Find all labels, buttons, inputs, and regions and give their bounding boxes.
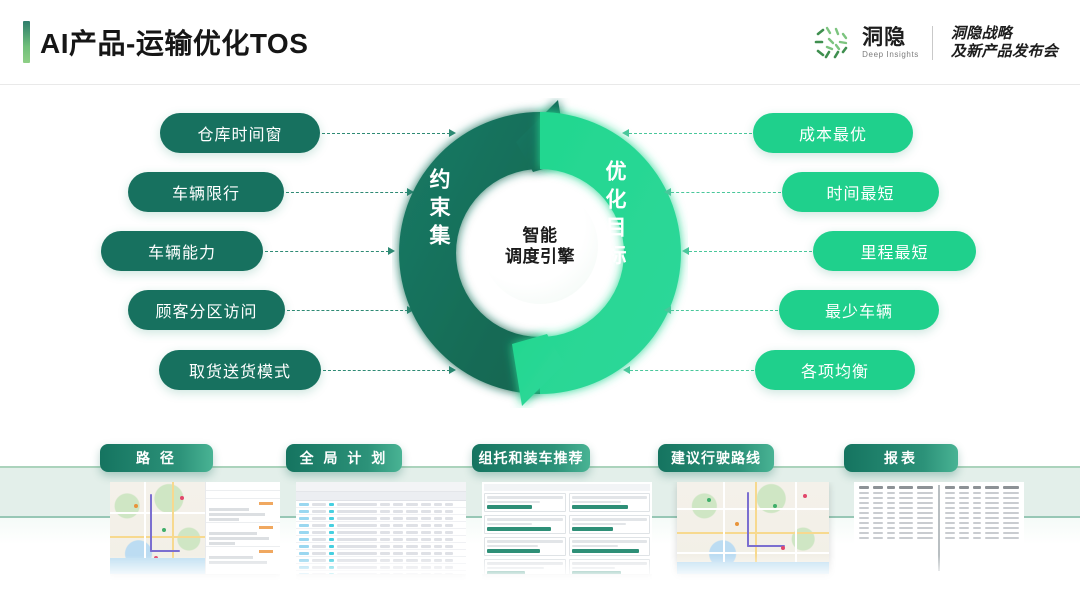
objective-pill-1-label: 成本最优 xyxy=(799,121,867,145)
module-card-4-thumbnail xyxy=(668,482,838,587)
constraint-pill-5-label: 取货送货模式 xyxy=(189,358,291,382)
connector-constraint-4 xyxy=(287,310,408,312)
objective-pill-3[interactable]: 里程最短 xyxy=(813,231,976,271)
connector-objective-4 xyxy=(671,310,778,312)
connector-objective-2 xyxy=(671,192,781,194)
constraint-pill-4-label: 顾客分区访问 xyxy=(155,298,257,322)
constraint-pill-2[interactable]: 车辆限行 xyxy=(128,172,284,212)
module-card-3-chip[interactable]: 组托和装车推荐 xyxy=(472,444,590,472)
connector-objective-1 xyxy=(629,133,752,135)
event-tagline-line2: 及新产品发布会 xyxy=(951,43,1058,61)
module-card-1[interactable]: 路 径 xyxy=(100,444,290,587)
brand-logo: 洞隐 Deep Insights 洞隐战略 及新产品发布会 xyxy=(809,20,1058,66)
module-card-2-thumbnail xyxy=(296,482,466,587)
constraint-pill-3-label: 车辆能力 xyxy=(148,239,216,263)
objective-pill-4-label: 最少车辆 xyxy=(825,298,893,322)
constraint-group-label: 约束集 xyxy=(428,168,449,252)
constraint-pill-1[interactable]: 仓库时间窗 xyxy=(160,113,320,153)
module-card-3-label: 组托和装车推荐 xyxy=(479,448,584,468)
constraint-pill-3[interactable]: 车辆能力 xyxy=(101,231,263,271)
logo-divider xyxy=(932,26,933,60)
engine-hub-line1: 智能 xyxy=(523,225,558,246)
module-card-4-chip[interactable]: 建议行驶路线 xyxy=(658,444,774,472)
module-card-5-thumbnail xyxy=(854,482,1024,587)
connector-objective-2-arrow xyxy=(664,188,671,196)
engine-hub: 智能 调度引擎 xyxy=(482,188,598,304)
objective-pill-5-label: 各项均衡 xyxy=(801,358,869,382)
connector-objective-3-arrow xyxy=(682,247,689,255)
deep-insights-burst-icon xyxy=(809,21,853,65)
title-accent-bar xyxy=(23,21,30,63)
connector-objective-5 xyxy=(630,370,754,372)
connector-objective-1-arrow xyxy=(622,129,629,137)
objective-pill-3-label: 里程最短 xyxy=(860,239,928,263)
constraint-pill-5[interactable]: 取货送货模式 xyxy=(159,350,321,390)
objective-pill-2-label: 时间最短 xyxy=(826,180,894,204)
module-card-2-label: 全 局 计 划 xyxy=(300,448,389,468)
engine-core: 约束集 优化目标 智能 调度引擎 xyxy=(392,98,688,408)
module-card-1-thumbnail xyxy=(110,482,280,587)
module-card-5[interactable]: 报表 xyxy=(844,444,1034,587)
page-header: AI产品-运输优化TOS xyxy=(0,0,1080,84)
module-card-1-label: 路 径 xyxy=(136,448,177,468)
connector-constraint-2 xyxy=(286,192,408,194)
module-card-2-chip[interactable]: 全 局 计 划 xyxy=(286,444,402,472)
connector-objective-3 xyxy=(689,251,812,253)
module-showcase: 路 径 xyxy=(0,444,1080,607)
constraint-pill-1-label: 仓库时间窗 xyxy=(197,121,282,145)
engine-hub-line2: 调度引擎 xyxy=(505,246,575,267)
connector-objective-4-arrow xyxy=(664,306,671,314)
connector-objective-5-arrow xyxy=(623,366,630,374)
constraint-pill-2-label: 车辆限行 xyxy=(172,180,240,204)
logo-name-cn: 洞隐 xyxy=(862,27,919,48)
engine-diagram: 仓库时间窗 车辆限行 车辆能力 顾客分区访问 取货送货模式 xyxy=(0,84,1080,444)
objective-pill-5[interactable]: 各项均衡 xyxy=(755,350,915,390)
constraint-pill-4[interactable]: 顾客分区访问 xyxy=(128,290,285,330)
module-card-5-chip[interactable]: 报表 xyxy=(844,444,958,472)
objective-group-label: 优化目标 xyxy=(604,160,625,272)
objective-pill-2[interactable]: 时间最短 xyxy=(782,172,939,212)
connector-constraint-3 xyxy=(265,251,389,253)
module-card-3-thumbnail xyxy=(482,482,652,587)
objective-pill-1[interactable]: 成本最优 xyxy=(753,113,913,153)
module-card-4-label: 建议行驶路线 xyxy=(671,448,761,468)
event-tagline-line1: 洞隐战略 xyxy=(951,25,1058,43)
objective-pill-4[interactable]: 最少车辆 xyxy=(779,290,939,330)
logo-name-en: Deep Insights xyxy=(862,51,919,59)
event-tagline: 洞隐战略 及新产品发布会 xyxy=(951,25,1058,62)
module-card-2[interactable]: 全 局 计 划 xyxy=(286,444,476,587)
module-card-1-chip[interactable]: 路 径 xyxy=(100,444,213,472)
logo-wordmark: 洞隐 Deep Insights xyxy=(862,27,919,59)
module-card-3[interactable]: 组托和装车推荐 xyxy=(472,444,662,587)
page-title: AI产品-运输优化TOS xyxy=(40,22,308,62)
module-card-4[interactable]: 建议行驶路线 xyxy=(658,444,848,587)
module-card-5-label: 报表 xyxy=(884,448,918,468)
